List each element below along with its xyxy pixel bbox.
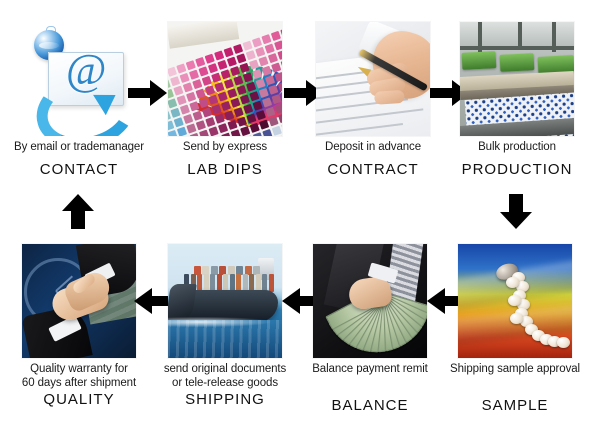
- shell-necklace-chain: [458, 244, 572, 358]
- production-stage-label: PRODUCTION: [442, 161, 592, 178]
- shipping-image: [168, 244, 282, 358]
- quality-caption-line1: Quality warranty for: [4, 363, 154, 377]
- finger-3: [374, 90, 405, 105]
- lab-dips-image: [168, 22, 282, 136]
- arrow-down-icon-production-to-sample: [498, 194, 534, 230]
- contract-stage-label: CONTRACT: [298, 161, 448, 178]
- handshake-photo: [22, 244, 136, 358]
- container-ship-photo: [168, 244, 282, 358]
- green-machine-unit: [500, 53, 535, 72]
- bow-wake: [168, 316, 282, 328]
- contract-caption: Deposit in advance: [298, 141, 448, 155]
- step-quality: Quality warranty for 60 days after shipm…: [4, 244, 154, 408]
- support-beam: [460, 46, 574, 50]
- colored-fabric-shell-necklace-photo: [458, 244, 572, 358]
- step-lab-dips: Send by express LAB DIPS: [150, 22, 300, 178]
- email-at-symbol-icon: @: [22, 22, 136, 136]
- quality-stage-label: QUALITY: [4, 391, 154, 408]
- hand-signing-contract-photo: [316, 22, 430, 136]
- hand-holding-dollar-bills-photo: [313, 244, 427, 358]
- arrow-up-icon-quality-to-contact: [60, 194, 96, 230]
- lab-dips-stage-label: LAB DIPS: [150, 161, 300, 178]
- support-beam: [518, 22, 522, 48]
- lab-dips-caption: Send by express: [150, 141, 300, 155]
- quality-caption-line2: 60 days after shipment: [4, 377, 154, 391]
- contact-image: @: [22, 22, 136, 136]
- balance-stage-label: BALANCE: [295, 397, 445, 414]
- step-shipping: send original documents or tele-release …: [150, 244, 300, 408]
- production-caption: Bulk production: [442, 141, 592, 155]
- sample-caption: Shipping sample approval: [440, 363, 590, 377]
- step-production: Bulk production PRODUCTION: [442, 22, 592, 178]
- balance-image: [313, 244, 427, 358]
- shipping-stage-label: SHIPPING: [150, 391, 300, 408]
- shipping-caption-line2: or tele-release goods: [150, 377, 300, 391]
- contact-stage-label: CONTACT: [4, 161, 154, 178]
- step-contract: Deposit in advance CONTRACT: [298, 22, 448, 178]
- contact-caption: By email or trademanager: [4, 141, 154, 155]
- process-flow-diagram: @ By email or trademanager CONTACT: [0, 0, 601, 438]
- sample-stage-label: SAMPLE: [440, 397, 590, 414]
- quality-image: [22, 244, 136, 358]
- step-sample: Shipping sample approval SAMPLE: [440, 244, 590, 414]
- green-machine-unit: [462, 51, 497, 70]
- balance-caption: Balance payment remit: [295, 363, 445, 377]
- color-swatch-fan-photo: [168, 22, 282, 136]
- shipping-caption-line1: send original documents: [150, 363, 300, 377]
- contract-image: [316, 22, 430, 136]
- production-image: [460, 22, 574, 136]
- textile-printing-machine-photo: [460, 22, 574, 136]
- sample-image: [458, 244, 572, 358]
- step-balance: Balance payment remit BALANCE: [295, 244, 445, 414]
